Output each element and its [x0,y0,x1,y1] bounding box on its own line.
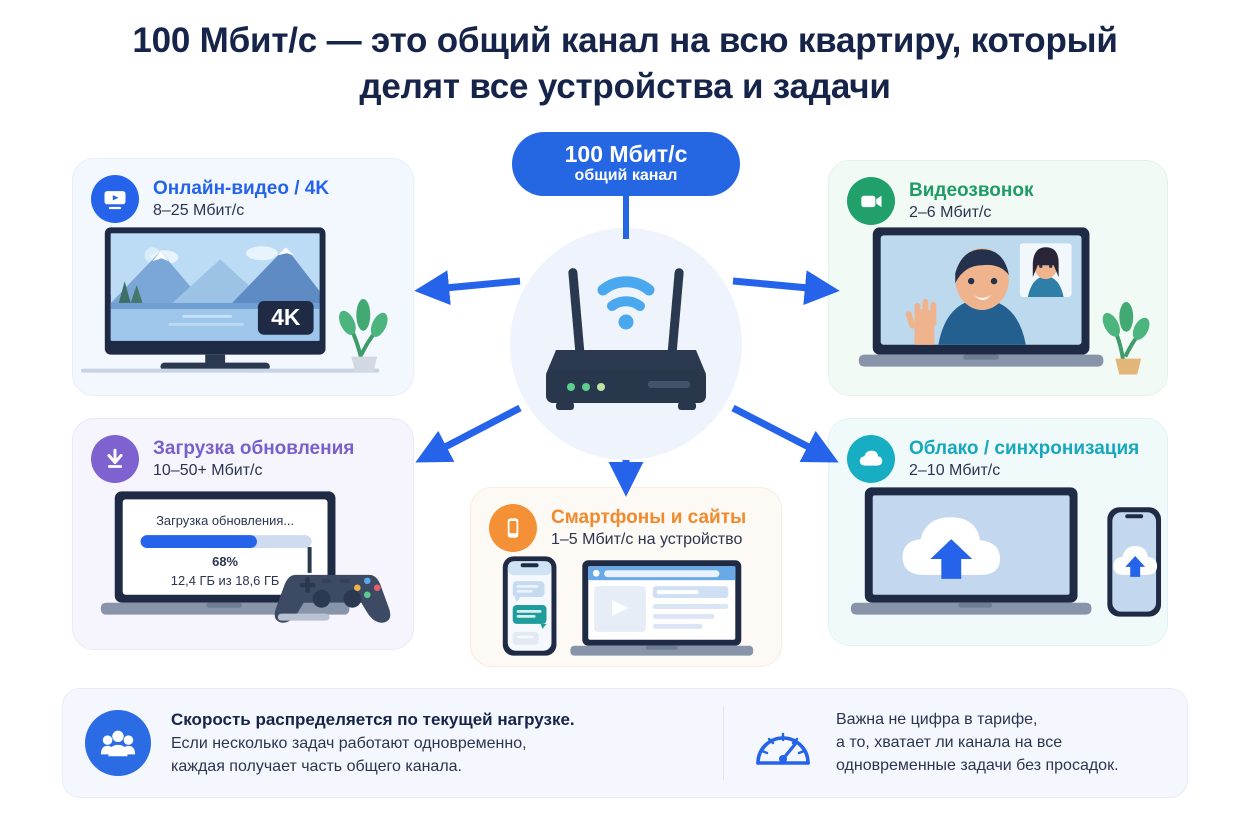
card-online-video[interactable]: Онлайн-видео / 4K 8–25 Мбит/с [72,158,414,396]
card-subtitle: 8–25 Мбит/с [153,202,329,220]
hub-connector-stem [623,193,629,239]
tv-illustration: 4K [73,223,413,375]
infographic-root: 100 Мбит/с — это общий канал на всю квар… [0,0,1250,833]
progress-size: 12,4 ГБ из 18,6 ГБ [171,573,280,588]
card-subtitle: 2–10 Мбит/с [909,462,1139,480]
card-header: Загрузка обновления 10–50+ Мбит/с [73,419,413,483]
card-title: Загрузка обновления [153,438,354,460]
card-subtitle: 10–50+ Мбит/с [153,462,354,480]
video-camera-icon [847,177,895,225]
download-laptop-illustration: Загрузка обновления... 68% 12,4 ГБ из 18… [73,483,413,629]
card-text: Видеозвонок 2–6 Мбит/с [909,180,1033,222]
footer-right-line1: Важна не цифра в тарифе, [836,711,1119,729]
progress-bar-fill [141,535,257,548]
card-video-call[interactable]: Видеозвонок 2–6 Мбит/с [828,160,1168,396]
speedometer-icon [752,715,814,771]
card-smartphones-sites[interactable]: Смартфоны и сайты 1–5 Мбит/с на устройст… [470,487,782,667]
hub-speed-value: 100 Мбит/с [565,142,688,166]
card-cloud-sync[interactable]: Облако / синхронизация 2–10 Мбит/с [828,418,1168,646]
arrow-to-videocall [733,281,830,290]
card-text: Онлайн-видео / 4K 8–25 Мбит/с [153,178,329,220]
tv-4k-badge: 4K [271,304,301,330]
card-text: Загрузка обновления 10–50+ Мбит/с [153,438,354,480]
footer-panel: Скорость распределяется по текущей нагру… [62,688,1188,798]
arrow-to-download [424,408,520,458]
footer-left: Скорость распределяется по текущей нагру… [63,710,723,776]
play-video-icon [91,175,139,223]
download-arrow-icon [91,435,139,483]
arrow-to-cloud [733,408,830,458]
hub-speed-badge: 100 Мбит/с общий канал [512,132,740,196]
cloud-sync-illustration [829,483,1167,625]
people-group-icon [85,710,151,776]
card-text: Смартфоны и сайты 1–5 Мбит/с на устройст… [551,507,746,549]
card-download-update[interactable]: Загрузка обновления 10–50+ Мбит/с Загруз… [72,418,414,650]
card-title: Видеозвонок [909,180,1033,202]
footer-left-text: Скорость распределяется по текущей нагру… [171,710,575,776]
card-header: Онлайн-видео / 4K 8–25 Мбит/с [73,159,413,223]
footer-right-line3: одновременные задачи без просадок. [836,757,1119,775]
footer-left-strong: Скорость распределяется по текущей нагру… [171,710,575,730]
hub-speed-label: общий канал [575,166,678,186]
card-title: Онлайн-видео / 4K [153,178,329,200]
footer-right-text: Важна не цифра в тарифе, а то, хватает л… [836,711,1119,775]
card-title: Облако / синхронизация [909,438,1139,460]
card-subtitle: 1–5 Мбит/с на устройство [551,531,746,549]
phone-laptop-illustration [471,552,781,660]
footer-right: Важна не цифра в тарифе, а то, хватает л… [724,711,1119,775]
wifi-router-icon [510,228,742,460]
video-call-illustration [829,225,1167,375]
cloud-icon [847,435,895,483]
footer-left-line2: Если несколько задач работают одновремен… [171,735,575,753]
page-title: 100 Мбит/с — это общий канал на всю квар… [0,18,1250,110]
progress-caption: Загрузка обновления... [156,513,294,528]
smartphone-icon [489,504,537,552]
arrow-to-video [424,281,520,290]
footer-left-line3: каждая получает часть общего канала. [171,758,575,776]
card-header: Видеозвонок 2–6 Мбит/с [829,161,1167,225]
card-text: Облако / синхронизация 2–10 Мбит/с [909,438,1139,480]
progress-percent: 68% [212,554,238,569]
card-header: Облако / синхронизация 2–10 Мбит/с [829,419,1167,483]
card-header: Смартфоны и сайты 1–5 Мбит/с на устройст… [471,488,781,552]
card-title: Смартфоны и сайты [551,507,746,529]
footer-right-line2: а то, хватает ли канала на все [836,734,1119,752]
card-subtitle: 2–6 Мбит/с [909,204,1033,222]
